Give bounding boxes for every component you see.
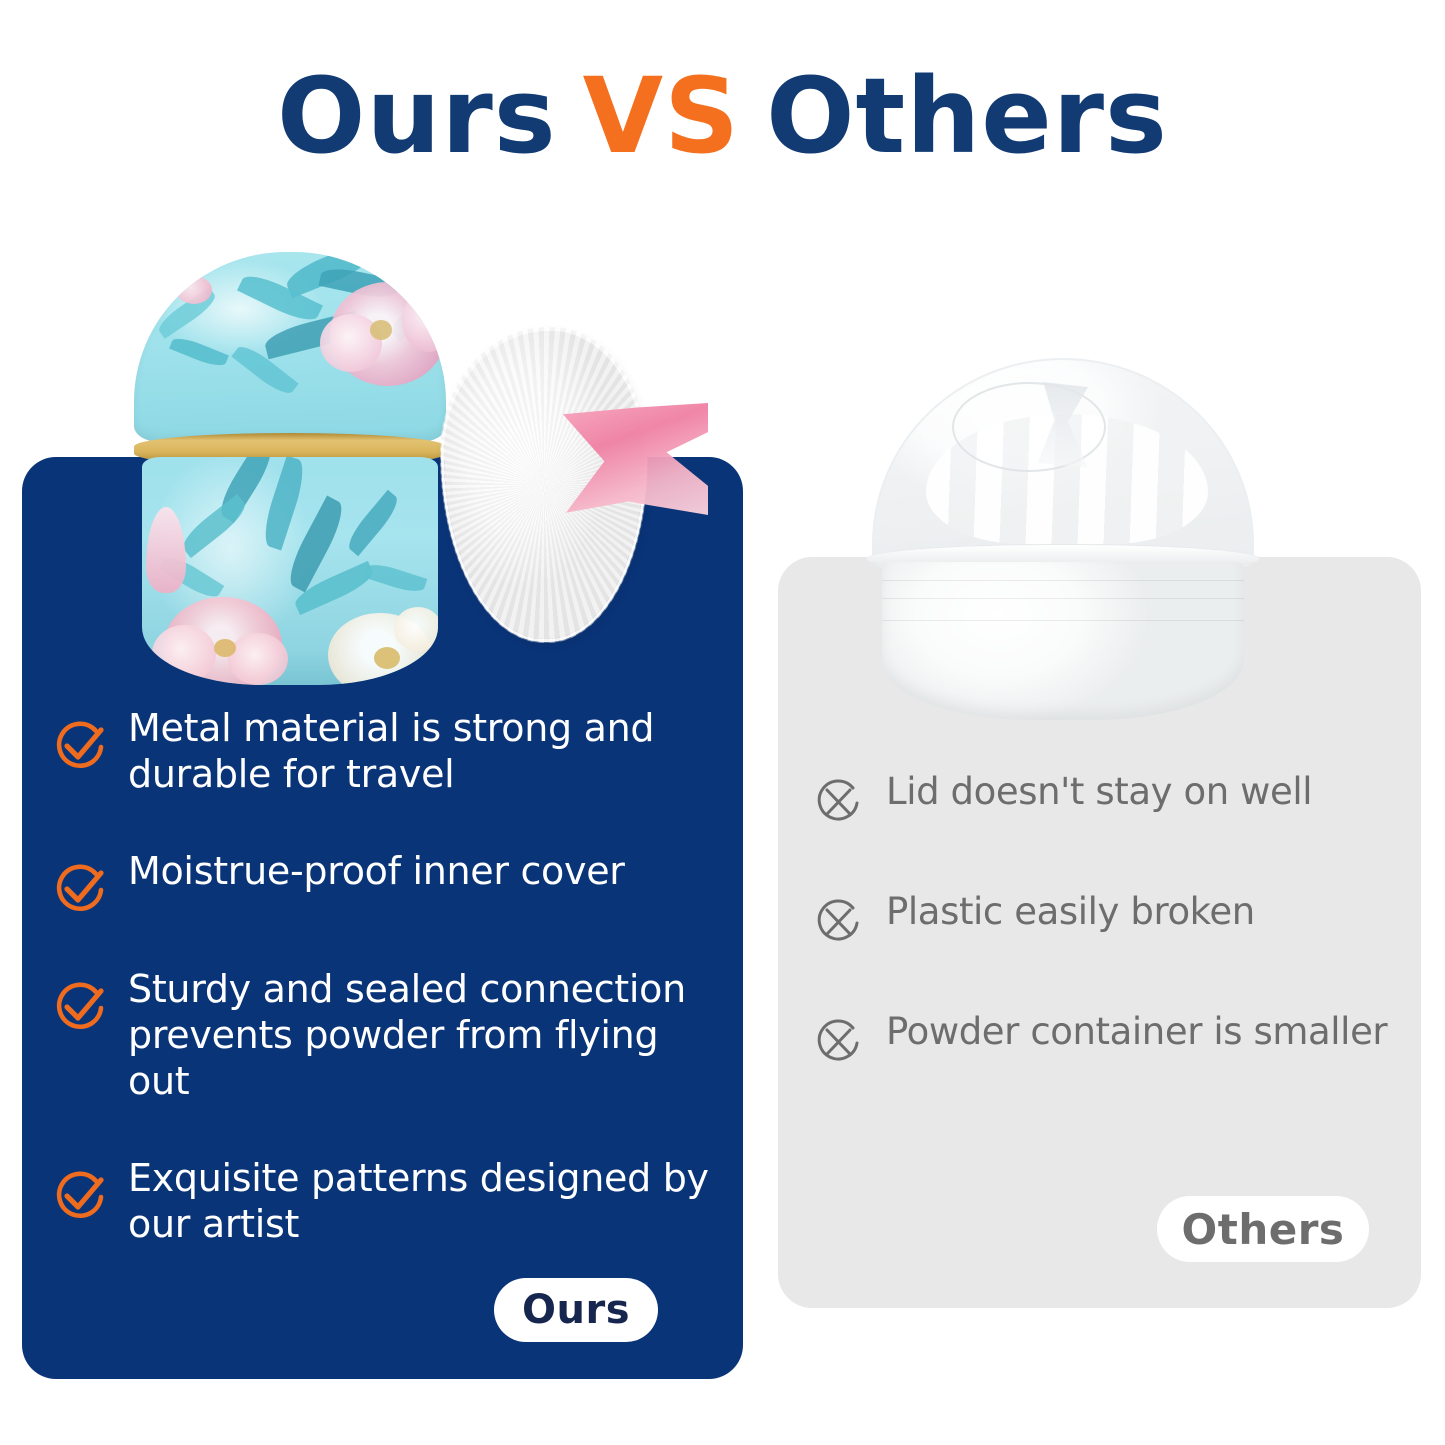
feature-text: Moistrue-proof inner cover: [128, 848, 625, 894]
jar-base: [882, 562, 1244, 720]
ours-badge: Ours: [494, 1278, 658, 1342]
title-word-others: Others: [766, 55, 1168, 177]
check-circle-icon: [52, 860, 108, 916]
title-word-vs: VS: [583, 55, 740, 177]
x-circle-icon: [812, 896, 864, 948]
list-item: Sturdy and sealed connection prevents po…: [52, 966, 722, 1105]
feature-text: Sturdy and sealed connection prevents po…: [128, 966, 722, 1105]
x-circle-icon: [812, 776, 864, 828]
feature-text: Exquisite patterns designed by our artis…: [128, 1155, 722, 1248]
tin-lid: [134, 252, 446, 442]
list-item: Metal material is strong and durable for…: [52, 705, 722, 798]
comparison-infographic: OursVSOthers: [0, 0, 1445, 1445]
others-drawback-list: Lid doesn't stay on well Plastic easily …: [812, 770, 1412, 1068]
drawback-text: Powder container is smaller: [886, 1010, 1387, 1054]
powder-puff: [444, 325, 704, 650]
title-word-ours: Ours: [277, 55, 557, 177]
check-circle-icon: [52, 717, 108, 773]
list-item: Lid doesn't stay on well: [812, 770, 1412, 828]
others-badge: Others: [1157, 1196, 1369, 1262]
list-item: Moistrue-proof inner cover: [52, 848, 722, 916]
drawback-text: Plastic easily broken: [886, 890, 1255, 934]
check-circle-icon: [52, 978, 108, 1034]
drawback-text: Lid doesn't stay on well: [886, 770, 1312, 814]
x-circle-icon: [812, 1016, 864, 1068]
jar-clear-dome-lid: [872, 358, 1254, 568]
feature-text: Metal material is strong and durable for…: [128, 705, 722, 798]
ours-feature-list: Metal material is strong and durable for…: [52, 705, 722, 1248]
page-title: OursVSOthers: [0, 62, 1445, 171]
list-item: Powder container is smaller: [812, 1010, 1412, 1068]
tin-body: [142, 457, 438, 685]
others-product-image: [858, 358, 1268, 723]
list-item: Exquisite patterns designed by our artis…: [52, 1155, 722, 1248]
check-circle-icon: [52, 1167, 108, 1223]
list-item: Plastic easily broken: [812, 890, 1412, 948]
